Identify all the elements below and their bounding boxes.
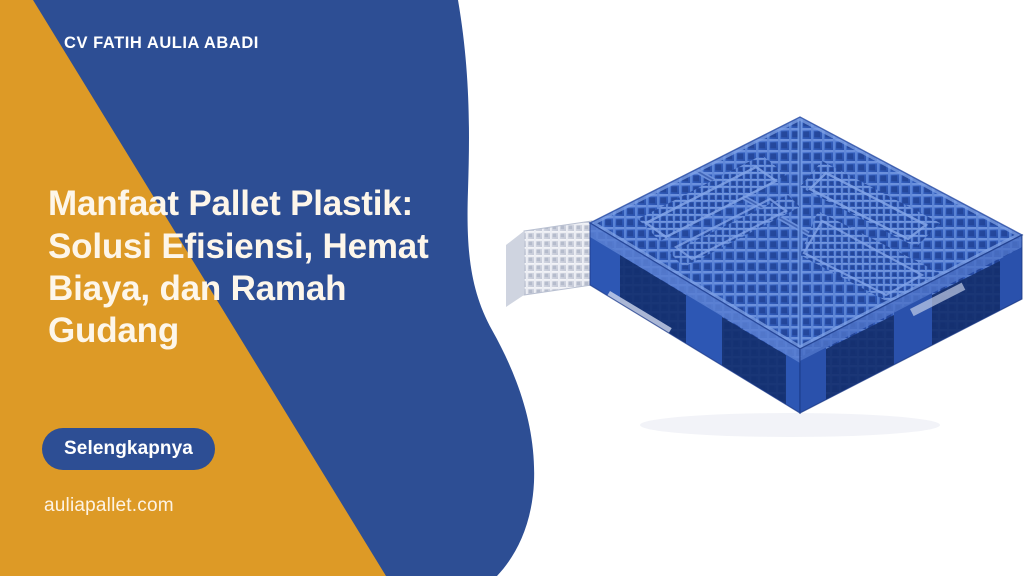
banner-content: CV FATIH AULIA ABADI Manfaat Pallet Plas… bbox=[0, 0, 470, 576]
website-url: auliapallet.com bbox=[44, 495, 174, 517]
headline-title: Manfaat Pallet Plastik: Solusi Efisiensi… bbox=[48, 183, 448, 352]
product-image-plastic-pallet bbox=[470, 95, 1024, 440]
pallet-shadow bbox=[640, 413, 940, 437]
pallet-end-block bbox=[506, 221, 592, 307]
banner-canvas: CV FATIH AULIA ABADI Manfaat Pallet Plas… bbox=[0, 0, 1024, 576]
company-name: CV FATIH AULIA ABADI bbox=[64, 34, 259, 53]
read-more-button[interactable]: Selengkapnya bbox=[42, 428, 215, 470]
